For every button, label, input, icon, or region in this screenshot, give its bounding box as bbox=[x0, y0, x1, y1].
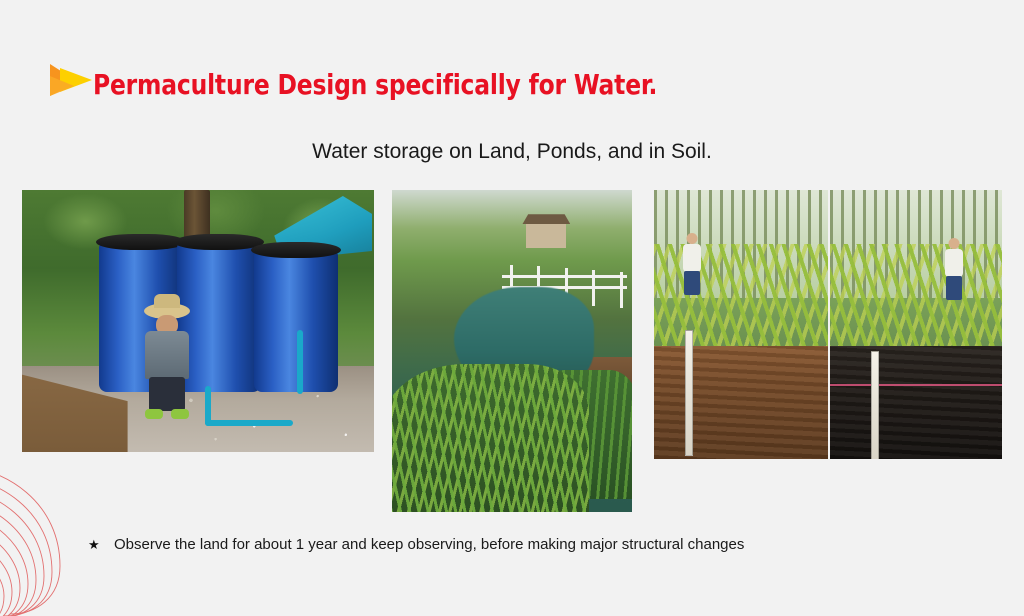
slide-subtitle: Water storage on Land, Ponds, and in Soi… bbox=[0, 140, 1024, 164]
slide-canvas: Permaculture Design specifically for Wat… bbox=[0, 0, 1024, 576]
photo-barrels bbox=[22, 190, 374, 452]
triangle-play-logo-icon bbox=[48, 60, 94, 100]
slide-title: Permaculture Design specifically for Wat… bbox=[93, 68, 657, 101]
bullet-row: ★ Observe the land for about 1 year and … bbox=[88, 536, 744, 553]
bullet-text: Observe the land for about 1 year and ke… bbox=[114, 536, 744, 553]
photo-soil-left bbox=[654, 190, 828, 459]
photo-soil-right bbox=[830, 190, 1002, 459]
star-icon: ★ bbox=[88, 538, 102, 551]
photo-pond bbox=[392, 190, 632, 512]
spiral-lines-decoration bbox=[0, 446, 150, 616]
